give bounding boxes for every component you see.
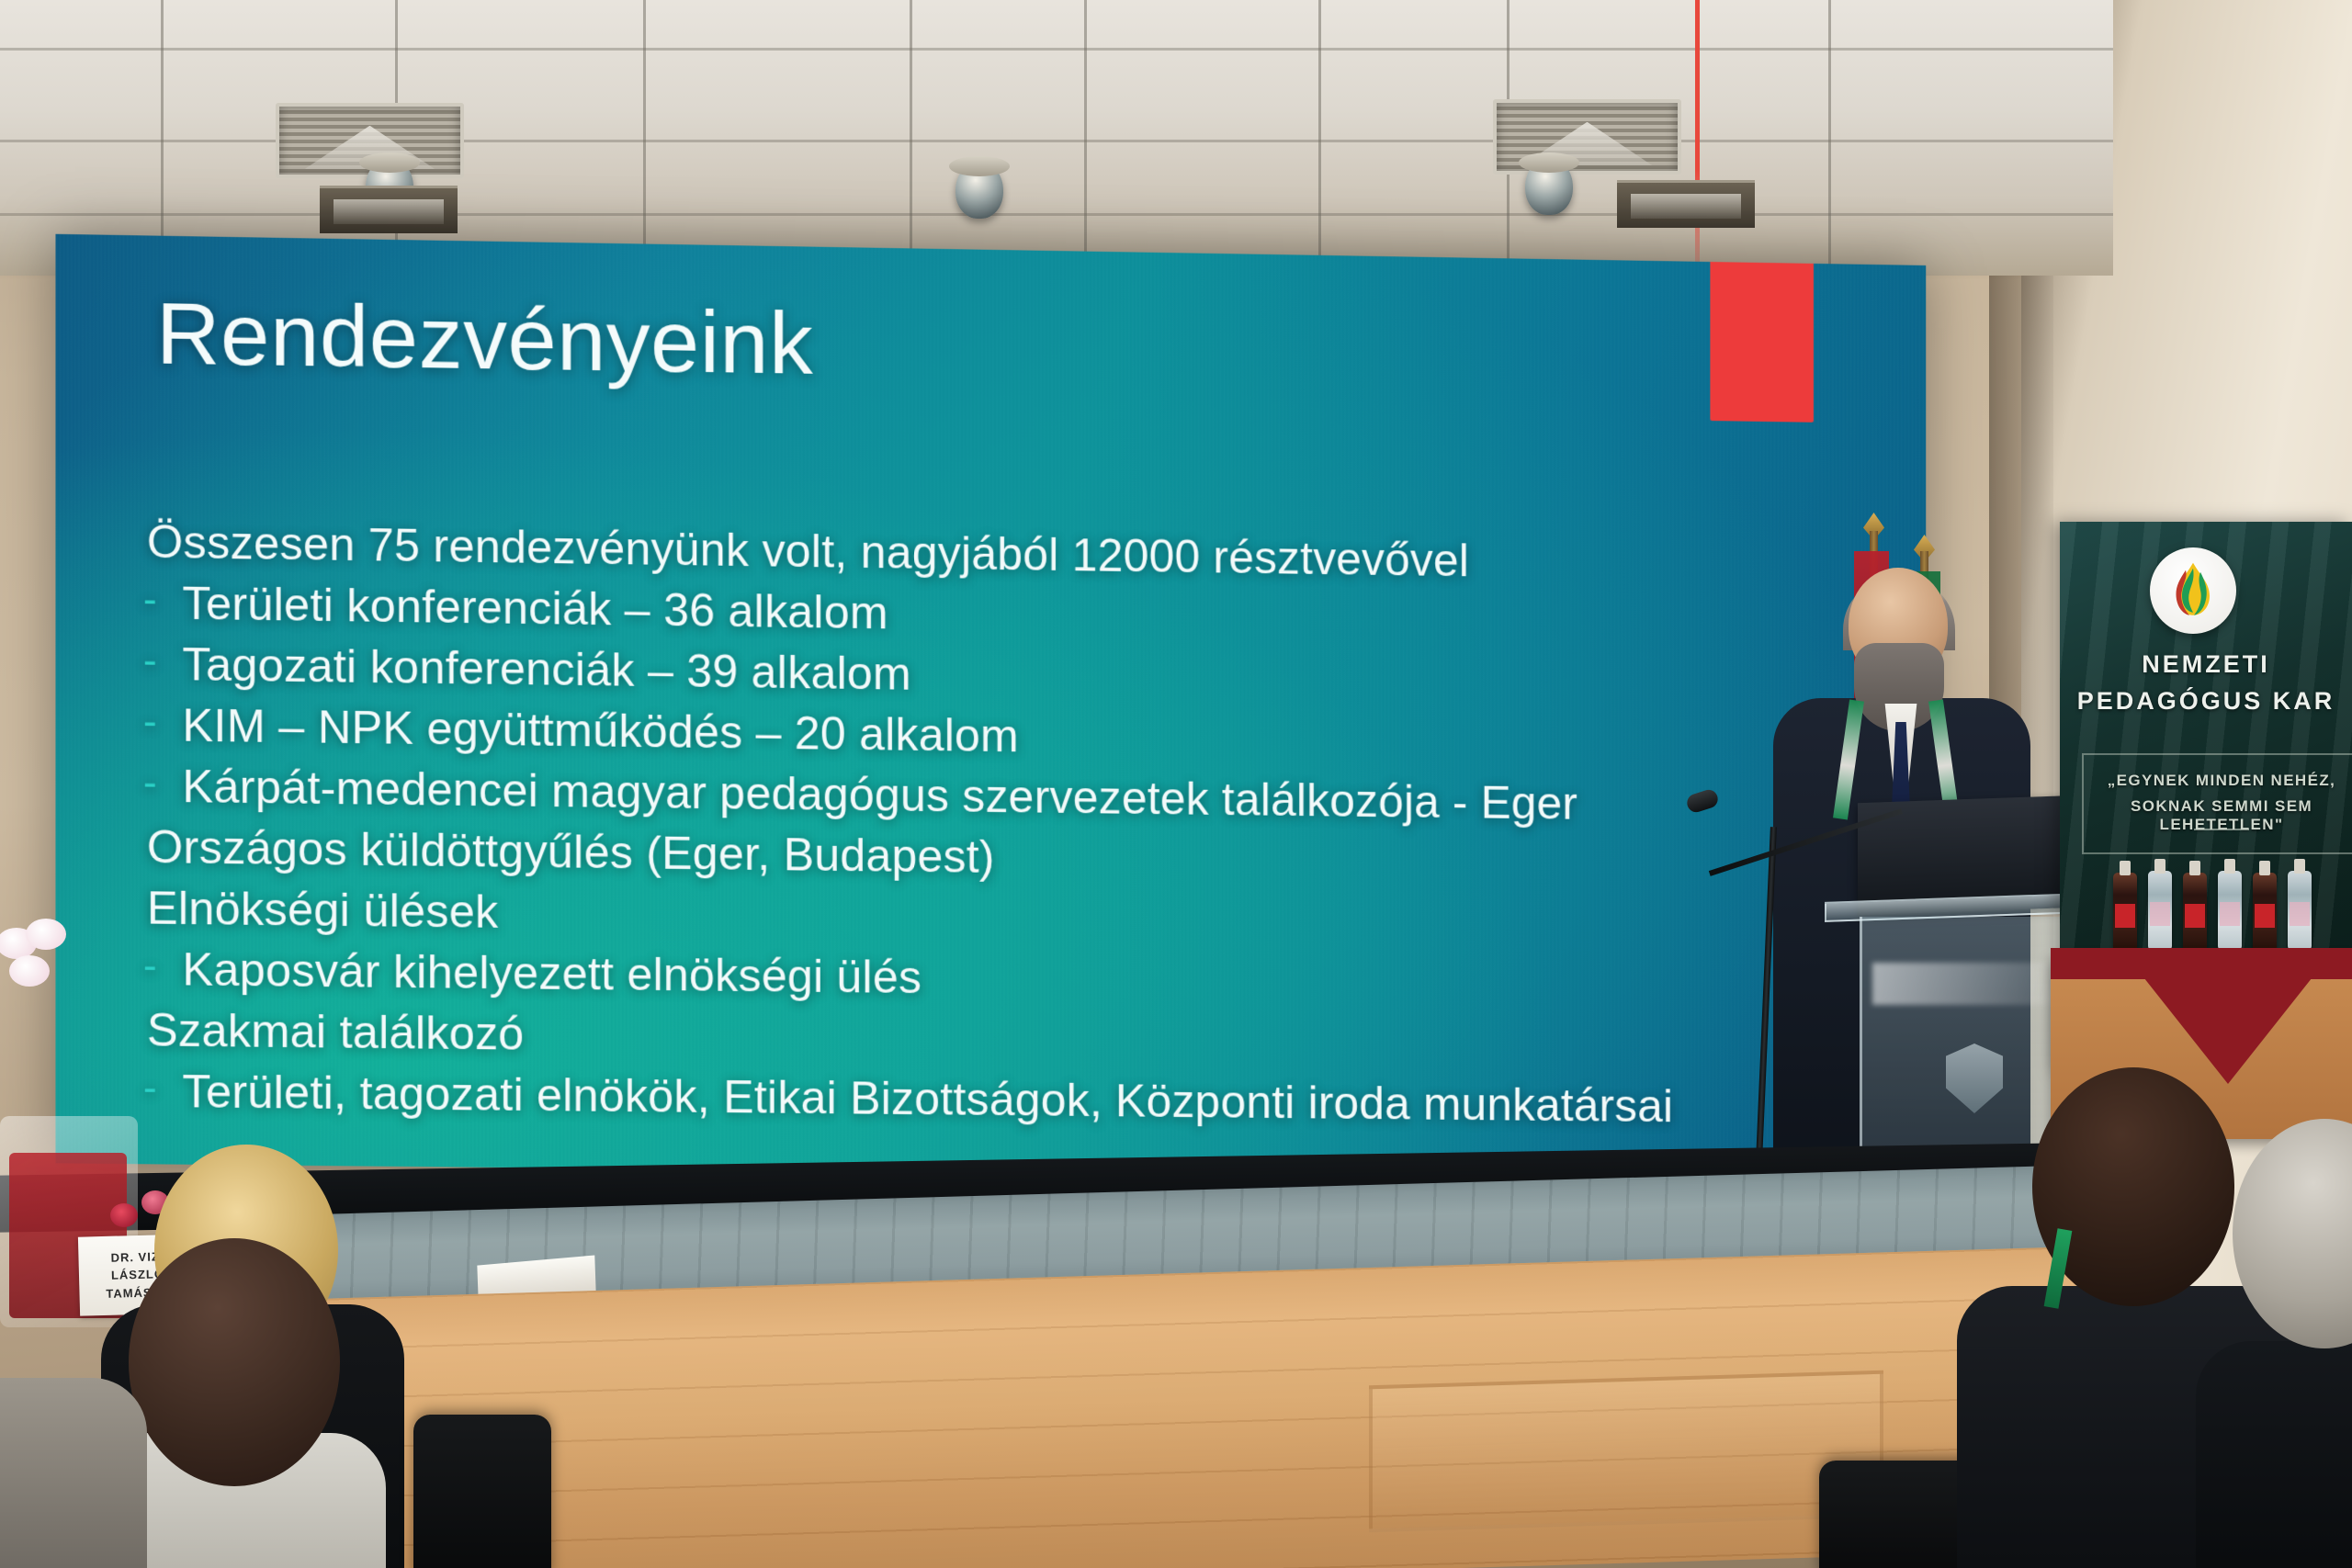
ceiling-red-stripe bbox=[1695, 0, 1700, 276]
audience-member-head bbox=[129, 1238, 340, 1486]
bottle bbox=[2218, 871, 2242, 950]
npk-logo-icon bbox=[2150, 547, 2236, 634]
ceiling bbox=[0, 0, 2113, 276]
bottle bbox=[2288, 871, 2312, 950]
stage-panel bbox=[1369, 1371, 1883, 1533]
bottle bbox=[2183, 873, 2207, 952]
banner-quote-box: „EGYNEK MINDEN NEHÉZ, SOKNAK SEMMI SEM L… bbox=[2082, 753, 2352, 854]
bottle bbox=[2148, 871, 2172, 950]
slide-vignette bbox=[55, 234, 1926, 1181]
table-cloth-point bbox=[2141, 974, 2315, 1084]
bottle bbox=[2113, 873, 2137, 952]
ceiling-recess-left bbox=[320, 186, 458, 233]
lectern-glare bbox=[1872, 963, 2069, 1005]
ceiling-spotlight-3 bbox=[1525, 158, 1573, 215]
ceiling-recess-right bbox=[1617, 180, 1755, 228]
banner-quote-line1: „EGYNEK MINDEN NEHÉZ, bbox=[2084, 772, 2352, 790]
presentation-photo: Rendezvényeink Összesen 75 rendezvényünk… bbox=[0, 0, 2352, 1568]
banner-org-line1: NEMZETI bbox=[2060, 650, 2352, 679]
ceiling-spotlight-2 bbox=[955, 162, 1003, 219]
audience-member-shoulders bbox=[2196, 1341, 2352, 1568]
orchid-flower bbox=[0, 919, 101, 1047]
chair-back bbox=[413, 1415, 551, 1568]
audience-member-shoulders bbox=[0, 1378, 147, 1568]
projected-slide: Rendezvényeink Összesen 75 rendezvényünk… bbox=[55, 234, 1926, 1181]
flame-droplet-icon bbox=[2169, 561, 2217, 618]
bottle bbox=[2253, 873, 2277, 952]
banner-org-line2: PEDAGÓGUS KAR bbox=[2060, 687, 2352, 716]
banner-divider bbox=[2194, 829, 2249, 830]
